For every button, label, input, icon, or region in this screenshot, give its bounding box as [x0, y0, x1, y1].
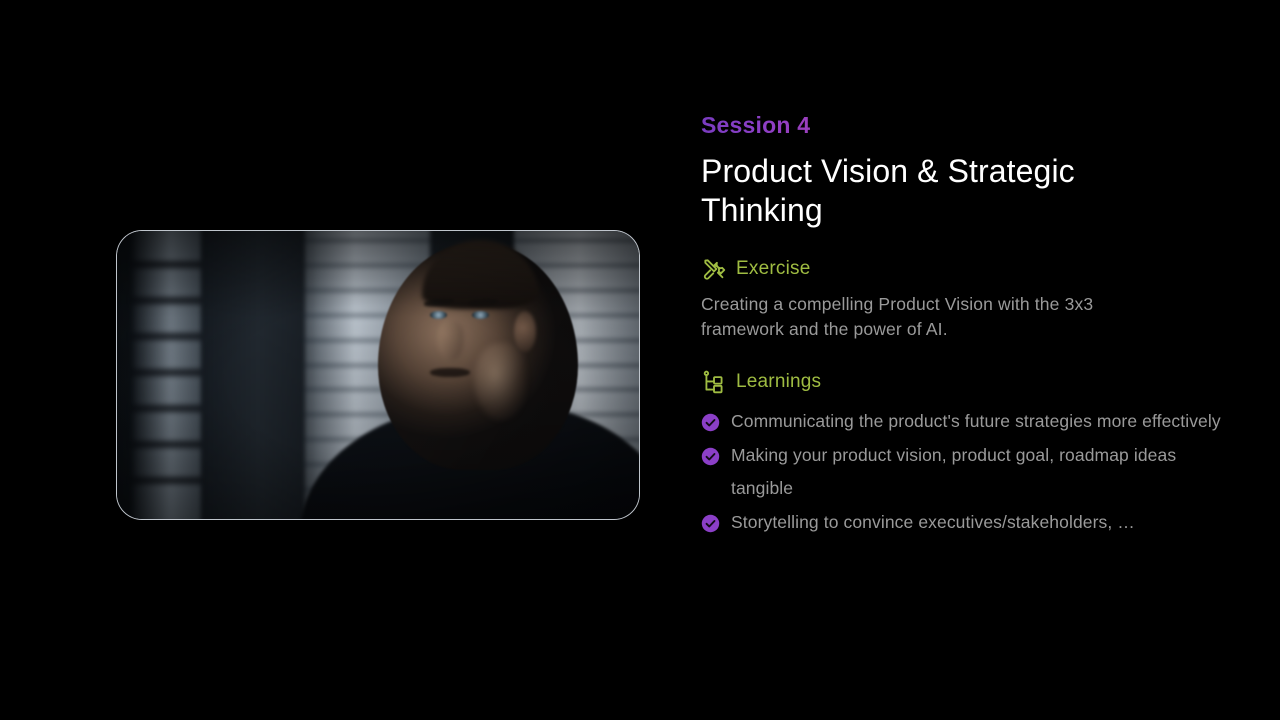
exercise-label: Exercise: [736, 258, 810, 280]
check-circle-icon: [701, 413, 720, 432]
learning-item-text: Communicating the product's future strat…: [731, 405, 1221, 439]
slide-root: Session 4 Product Vision & Strategic Thi…: [0, 0, 1280, 720]
session-title: Product Vision & Strategic Thinking: [701, 152, 1131, 230]
hierarchy-icon: [701, 369, 727, 395]
learning-item-text: Storytelling to convince executives/stak…: [731, 506, 1135, 540]
list-item: Making your product vision, product goal…: [701, 439, 1221, 506]
check-circle-icon: [701, 447, 720, 466]
learnings-section: Learnings Communicating the product's fu…: [701, 369, 1221, 539]
learnings-list: Communicating the product's future strat…: [701, 405, 1221, 539]
video-still-image: [117, 231, 639, 519]
learnings-heading: Learnings: [701, 369, 1221, 395]
learning-item-text: Making your product vision, product goal…: [731, 439, 1221, 506]
learnings-label: Learnings: [736, 371, 821, 393]
session-content-panel: Session 4 Product Vision & Strategic Thi…: [701, 112, 1221, 561]
session-eyebrow: Session 4: [701, 112, 810, 140]
video-still-frame[interactable]: [116, 230, 640, 520]
video-vignette-overlay: [117, 231, 639, 519]
list-item: Communicating the product's future strat…: [701, 405, 1221, 439]
tools-icon: [701, 256, 727, 282]
exercise-heading: Exercise: [701, 256, 1221, 282]
list-item: Storytelling to convince executives/stak…: [701, 506, 1221, 540]
exercise-section: Exercise Creating a compelling Product V…: [701, 256, 1221, 343]
check-circle-icon: [701, 514, 720, 533]
exercise-description: Creating a compelling Product Vision wit…: [701, 292, 1161, 343]
